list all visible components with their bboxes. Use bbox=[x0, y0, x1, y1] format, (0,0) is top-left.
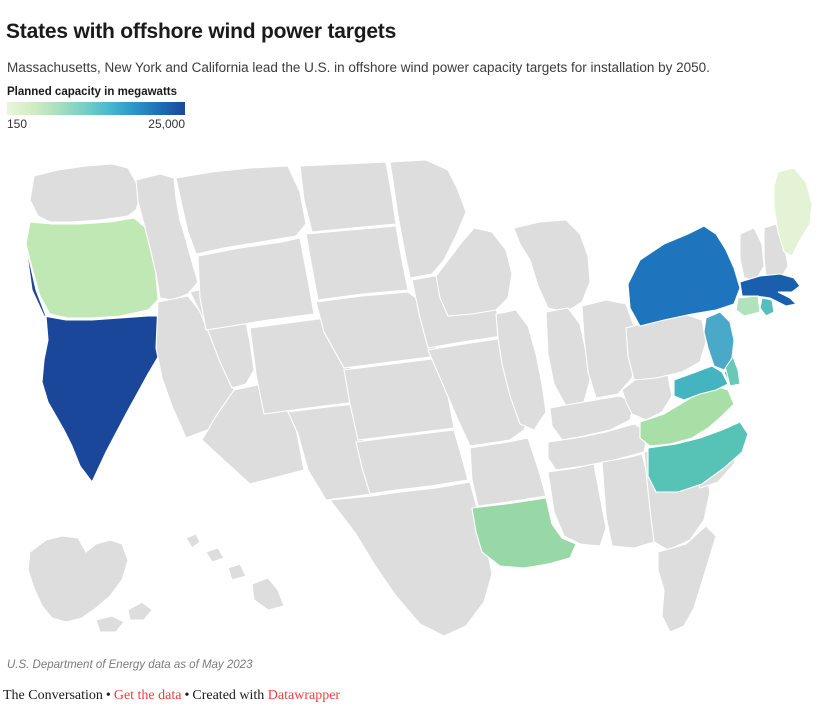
chart-container: States with offshore wind power targets … bbox=[0, 0, 821, 717]
legend-min-label: 150 bbox=[7, 117, 27, 131]
state-SD[interactable] bbox=[306, 226, 408, 300]
footer-separator-1: • bbox=[106, 688, 111, 703]
state-PA[interactable] bbox=[626, 314, 706, 380]
state-WA[interactable] bbox=[30, 164, 140, 222]
color-legend: Planned capacity in megawatts 150 25,000 bbox=[7, 86, 185, 133]
get-the-data-link[interactable]: Get the data bbox=[114, 688, 182, 703]
state-RI[interactable] bbox=[760, 298, 774, 316]
legend-title: Planned capacity in megawatts bbox=[7, 86, 185, 98]
state-CT[interactable] bbox=[736, 296, 760, 316]
page-title: States with offshore wind power targets bbox=[6, 20, 396, 44]
state-NY[interactable] bbox=[628, 226, 740, 326]
legend-max-label: 25,000 bbox=[148, 117, 185, 131]
state-HI[interactable] bbox=[186, 534, 284, 610]
legend-labels: 150 25,000 bbox=[7, 117, 185, 133]
state-NJ[interactable] bbox=[704, 312, 734, 370]
footer-publisher: The Conversation bbox=[3, 688, 103, 703]
created-with-label: Created with bbox=[192, 688, 264, 703]
us-choropleth-map bbox=[0, 140, 821, 650]
state-OK[interactable] bbox=[356, 430, 468, 494]
state-AK[interactable] bbox=[28, 536, 152, 632]
page-subtitle: Massachusetts, New York and California l… bbox=[7, 60, 710, 75]
map-states bbox=[26, 160, 812, 636]
chart-footer: The Conversation•Get the data•Created wi… bbox=[3, 688, 340, 704]
footer-separator-2: • bbox=[184, 688, 189, 703]
datawrapper-link[interactable]: Datawrapper bbox=[268, 688, 340, 703]
state-ND[interactable] bbox=[300, 162, 396, 232]
state-TX[interactable] bbox=[330, 482, 492, 636]
legend-gradient-bar bbox=[7, 102, 185, 115]
source-note: U.S. Department of Energy data as of May… bbox=[7, 659, 252, 671]
state-MI[interactable] bbox=[514, 220, 590, 312]
state-OR[interactable] bbox=[26, 218, 158, 318]
state-VT[interactable] bbox=[740, 228, 764, 280]
state-WY[interactable] bbox=[198, 238, 314, 330]
state-AR[interactable] bbox=[470, 438, 546, 506]
